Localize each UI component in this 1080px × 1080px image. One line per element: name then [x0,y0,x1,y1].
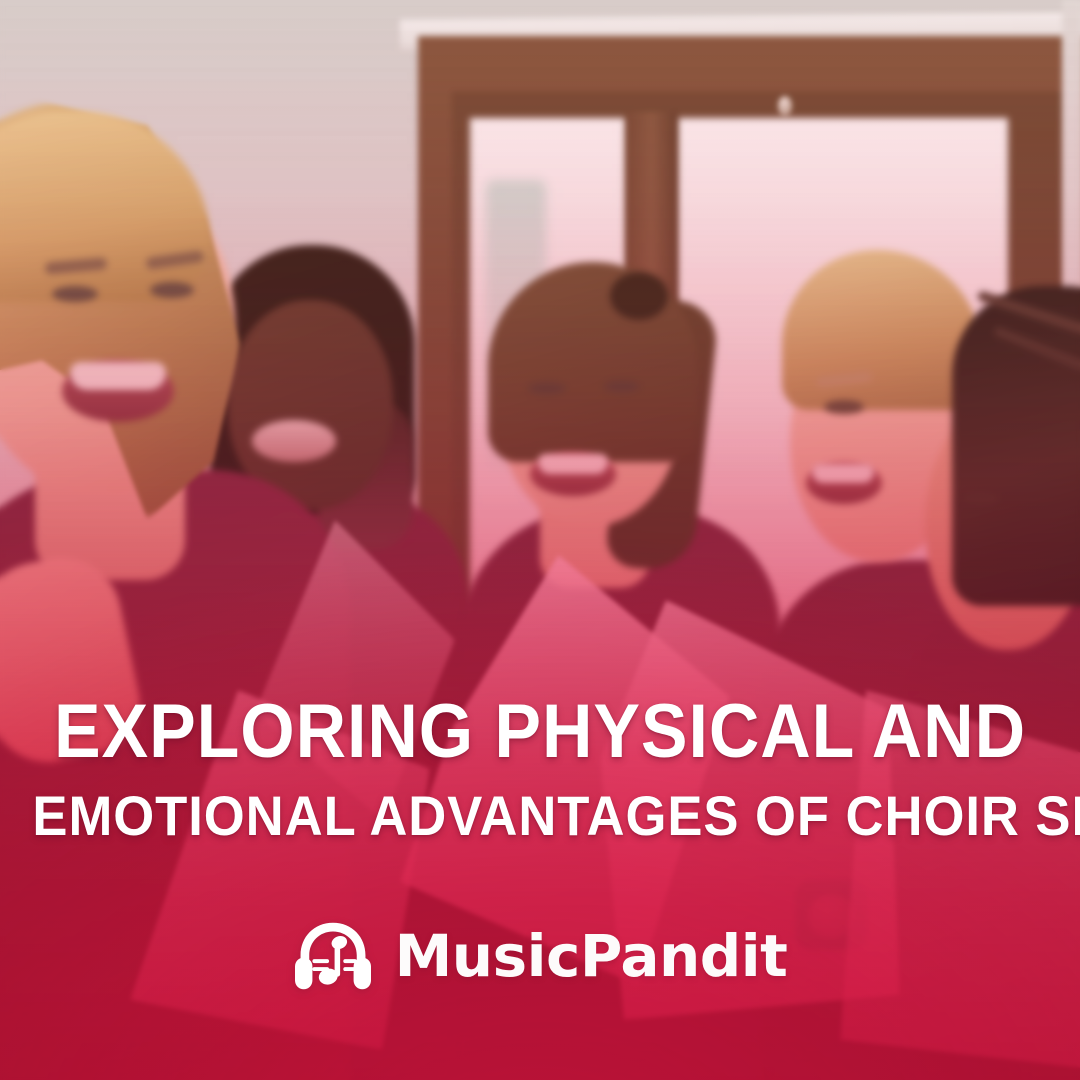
headline-block: Exploring Physical and Emotional Advanta… [0,694,1080,844]
headline-line-one: Exploring Physical and [43,694,1037,770]
brand-logo[interactable]: MusicPandit [0,918,1080,994]
brand-name: MusicPandit [395,927,788,985]
headphones-music-note-icon [293,918,373,994]
social-graphic-canvas: Exploring Physical and Emotional Advanta… [0,0,1080,1080]
headline-line-two: Emotional Advantages of Choir Singing [32,788,1047,844]
